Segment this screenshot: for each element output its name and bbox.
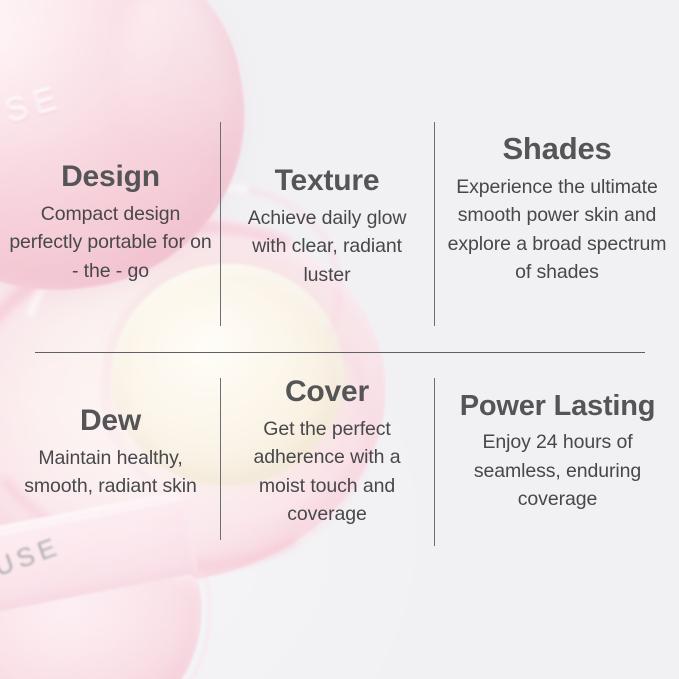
feature-cell-design: Design Compact design perfectly portable… [8,160,213,285]
feature-grid: Design Compact design perfectly portable… [0,0,679,679]
feature-description-shades: Experience the ultimate smooth power ski… [442,173,672,287]
feature-title-cover: Cover [228,375,426,409]
feature-title-shades: Shades [442,132,672,167]
feature-description-cover: Get the perfect adherence with a moist t… [228,415,426,529]
feature-title-design: Design [8,160,213,194]
feature-cell-texture: Texture Achieve daily glow with clear, r… [228,164,426,289]
product-feature-infographic: AMUSE AMUSE Design Compact design perfec… [0,0,679,679]
feature-cell-cover: Cover Get the perfect adherence with a m… [228,375,426,528]
feature-description-dew: Maintain healthy, smooth, radiant skin [8,444,213,501]
feature-cell-shades: Shades Experience the ultimate smooth po… [442,132,672,287]
feature-cell-power-lasting: Power Lasting Enjoy 24 hours of seamless… [440,390,675,514]
feature-title-texture: Texture [228,164,426,198]
feature-title-dew: Dew [8,404,213,438]
feature-description-design: Compact design perfectly portable for on… [8,200,213,285]
feature-description-power-lasting: Enjoy 24 hours of seamless, enduring cov… [440,428,675,513]
feature-cell-dew: Dew Maintain healthy, smooth, radiant sk… [8,404,213,501]
feature-title-power-lasting: Power Lasting [440,390,675,422]
feature-description-texture: Achieve daily glow with clear, radiant l… [228,204,426,289]
